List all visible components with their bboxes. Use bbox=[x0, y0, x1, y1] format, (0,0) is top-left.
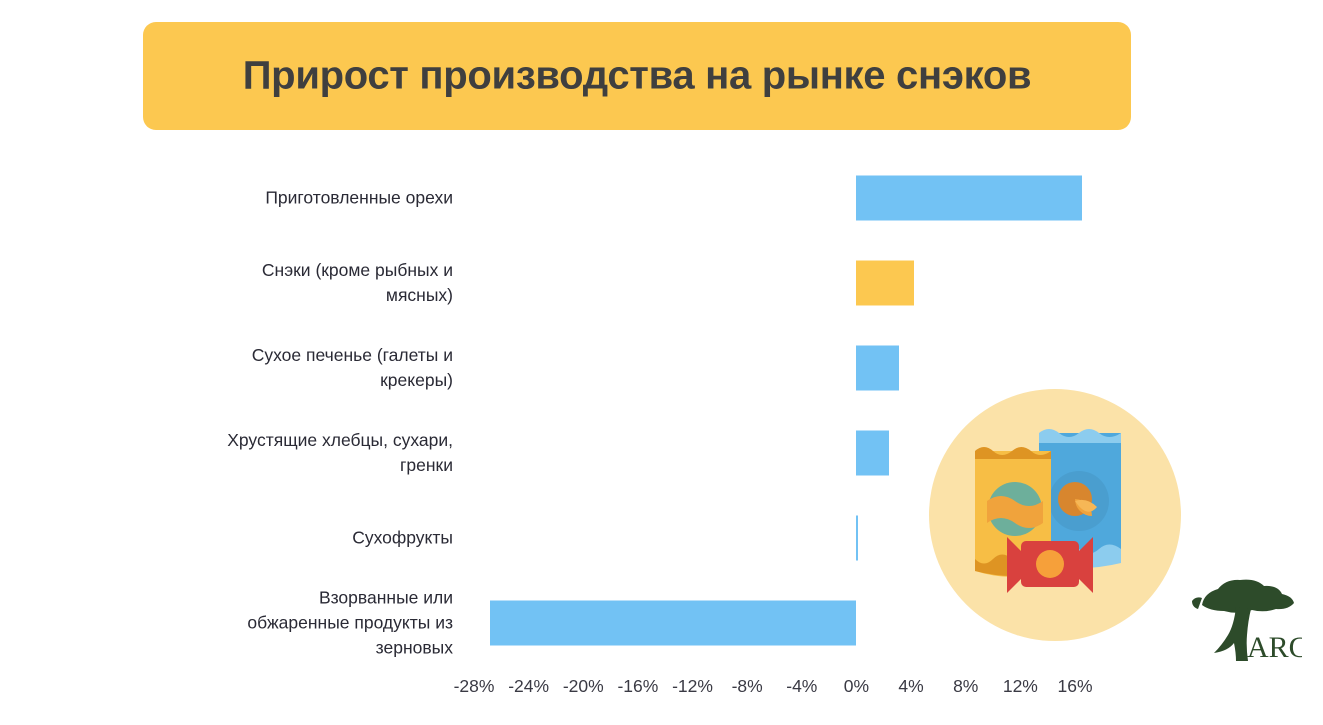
category-label: Приготовленные орехи bbox=[140, 186, 453, 211]
x-axis-tick: -24% bbox=[508, 676, 549, 697]
title-banner: Прирост производства на рынке снэков bbox=[143, 22, 1131, 130]
x-axis-tick: 8% bbox=[953, 676, 978, 697]
bar[interactable] bbox=[856, 176, 1081, 221]
category-label: Сухое печенье (галеты и крекеры) bbox=[140, 343, 453, 393]
x-axis: -28%-24%-20%-16%-12%-8%-4%0%4%8%12%16% bbox=[0, 676, 1323, 704]
logo: ARG bbox=[1190, 575, 1302, 671]
x-axis-tick: -20% bbox=[563, 676, 604, 697]
bar[interactable] bbox=[856, 346, 898, 391]
category-label: Сухофрукты bbox=[140, 526, 453, 551]
chart-row: Приготовленные орехи bbox=[0, 162, 1323, 234]
x-axis-tick: 16% bbox=[1057, 676, 1092, 697]
logo-text: ARG bbox=[1247, 631, 1302, 664]
x-axis-tick: -28% bbox=[454, 676, 495, 697]
bar[interactable] bbox=[856, 431, 889, 476]
x-axis-tick: 4% bbox=[898, 676, 923, 697]
bar[interactable] bbox=[856, 261, 913, 306]
category-label: Взорванные или обжаренные продукты из зе… bbox=[140, 586, 453, 661]
snack-bags-icon bbox=[929, 389, 1181, 641]
category-label: Хрустящие хлебцы, сухари, гренки bbox=[140, 428, 453, 478]
x-axis-tick: 12% bbox=[1003, 676, 1038, 697]
x-axis-tick: -12% bbox=[672, 676, 713, 697]
x-axis-tick: -8% bbox=[732, 676, 763, 697]
page-title: Прирост производства на рынке снэков bbox=[178, 54, 1096, 99]
category-label: Снэки (кроме рыбных и мясных) bbox=[140, 258, 453, 308]
x-axis-tick: 0% bbox=[844, 676, 869, 697]
bar[interactable] bbox=[856, 516, 858, 561]
x-axis-tick: -4% bbox=[786, 676, 817, 697]
x-axis-tick: -16% bbox=[617, 676, 658, 697]
chart-row: Снэки (кроме рыбных и мясных) bbox=[0, 247, 1323, 319]
bar[interactable] bbox=[490, 601, 856, 646]
